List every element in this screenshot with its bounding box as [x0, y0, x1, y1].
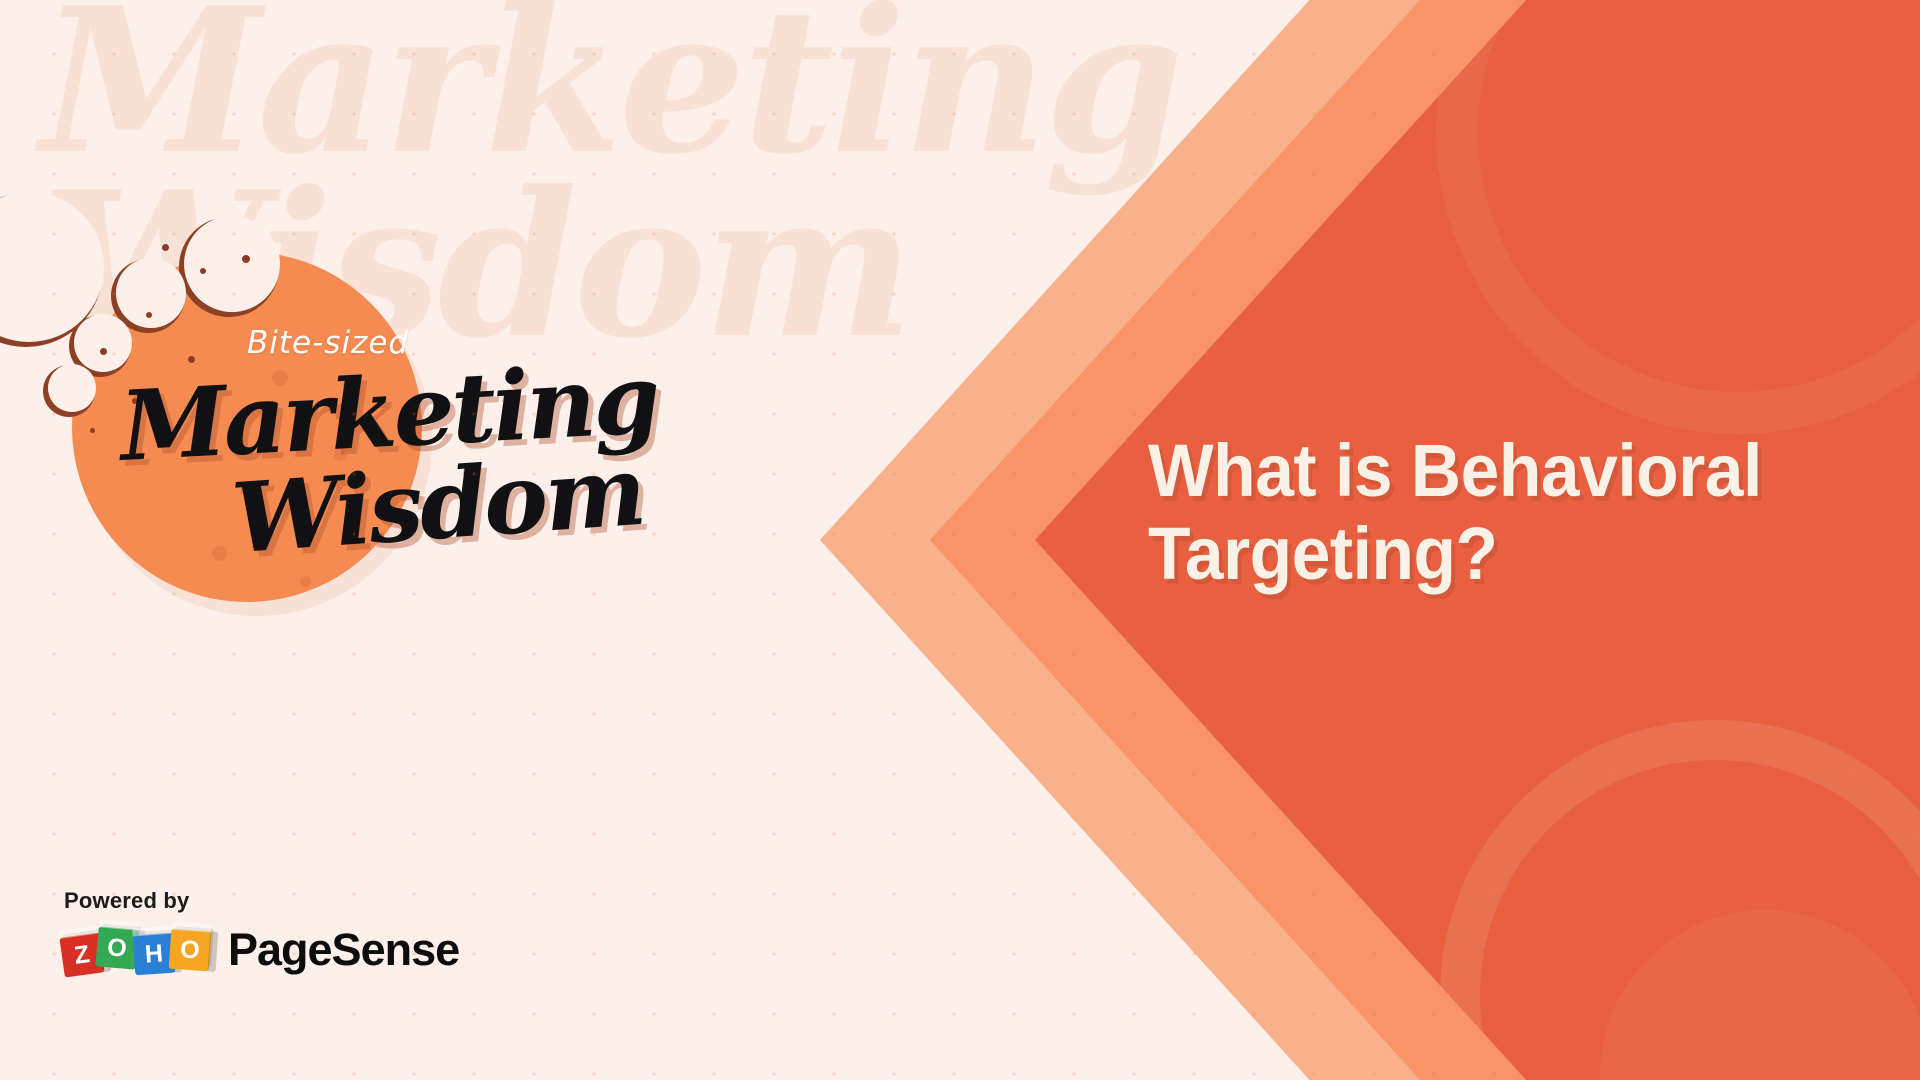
- cookie-speck: [212, 546, 227, 561]
- zoho-cube-o2: O: [169, 929, 212, 972]
- decorative-ring-bottom-outer: [1440, 720, 1920, 1080]
- bite-notch-icon: [74, 314, 132, 372]
- slide-canvas: Marketing Wisdom Bite-size: [0, 0, 1920, 1080]
- footer-branding: Powered by Z O H O: [62, 888, 459, 978]
- product-name-label: PageSense: [228, 924, 459, 976]
- bite-notch-icon: [184, 216, 280, 312]
- headline-title: What is Behavioral Targeting?: [1148, 430, 1806, 596]
- decorative-ring-bottom-inner: [1600, 910, 1920, 1080]
- brand-logo-lockup: Bite-sized Marketing Wisdom: [72, 252, 692, 652]
- bite-notch-icon: [48, 364, 96, 412]
- zoho-cube-letter: O: [106, 933, 128, 964]
- zoho-cube-letter: Z: [72, 940, 91, 971]
- bite-notch-icon: [116, 258, 186, 328]
- decorative-ring-top: [1436, 0, 1920, 434]
- zoho-cube-letter: H: [144, 939, 164, 969]
- cookie-speck: [300, 576, 311, 587]
- powered-by-label: Powered by: [64, 888, 459, 914]
- zoho-logo-icon: Z O H O: [62, 922, 214, 978]
- zoho-cube-letter: O: [179, 935, 200, 965]
